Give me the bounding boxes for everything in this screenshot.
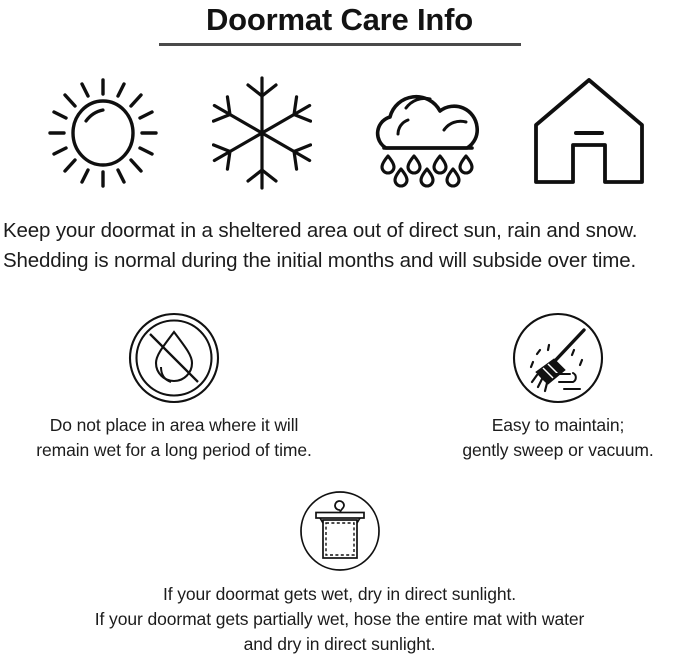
title-underline-rule — [159, 43, 521, 46]
no-water-line-2: remain wet for a long period of time. — [4, 438, 344, 463]
sun-icon — [48, 72, 158, 194]
snowflake-icon-slot — [212, 72, 312, 194]
house-icon — [528, 72, 650, 194]
no-water-icon — [128, 312, 220, 404]
rain-cloud-icon — [362, 72, 492, 194]
page-title: Doormat Care Info — [0, 0, 679, 38]
weather-icon-row — [0, 72, 679, 194]
sweep-line-1: Easy to maintain; — [388, 413, 679, 438]
drying-line-2: If your doormat gets partially wet, hose… — [0, 607, 679, 632]
drying-item: If your doormat gets wet, dry in direct … — [0, 490, 679, 657]
hanging-mat-icon — [299, 490, 381, 572]
intro-paragraph: Keep your doormat in a sheltered area ou… — [3, 216, 679, 276]
drying-line-1: If your doormat gets wet, dry in direct … — [0, 582, 679, 607]
care-item-sweep-caption: Easy to maintain; gently sweep or vacuum… — [388, 413, 679, 463]
intro-line-1: Keep your doormat in a sheltered area ou… — [3, 216, 679, 246]
no-water-line-1: Do not place in area where it will — [4, 413, 344, 438]
drying-item-caption: If your doormat gets wet, dry in direct … — [0, 582, 679, 657]
house-icon-slot — [528, 72, 650, 194]
care-item-no-water: Do not place in area where it will remai… — [4, 312, 344, 463]
rain-cloud-icon-slot — [362, 72, 492, 194]
care-item-no-water-caption: Do not place in area where it will remai… — [4, 413, 344, 463]
sweep-line-2: gently sweep or vacuum. — [388, 438, 679, 463]
page-header: Doormat Care Info — [0, 0, 679, 46]
intro-line-2: Shedding is normal during the initial mo… — [3, 246, 679, 276]
sun-icon-slot — [48, 72, 158, 194]
care-items-row: Do not place in area where it will remai… — [0, 312, 679, 462]
broom-sweep-icon — [512, 312, 604, 404]
drying-line-3: and dry in direct sunlight. — [0, 632, 679, 657]
snowflake-icon — [212, 72, 312, 194]
care-item-sweep: Easy to maintain; gently sweep or vacuum… — [388, 312, 679, 463]
